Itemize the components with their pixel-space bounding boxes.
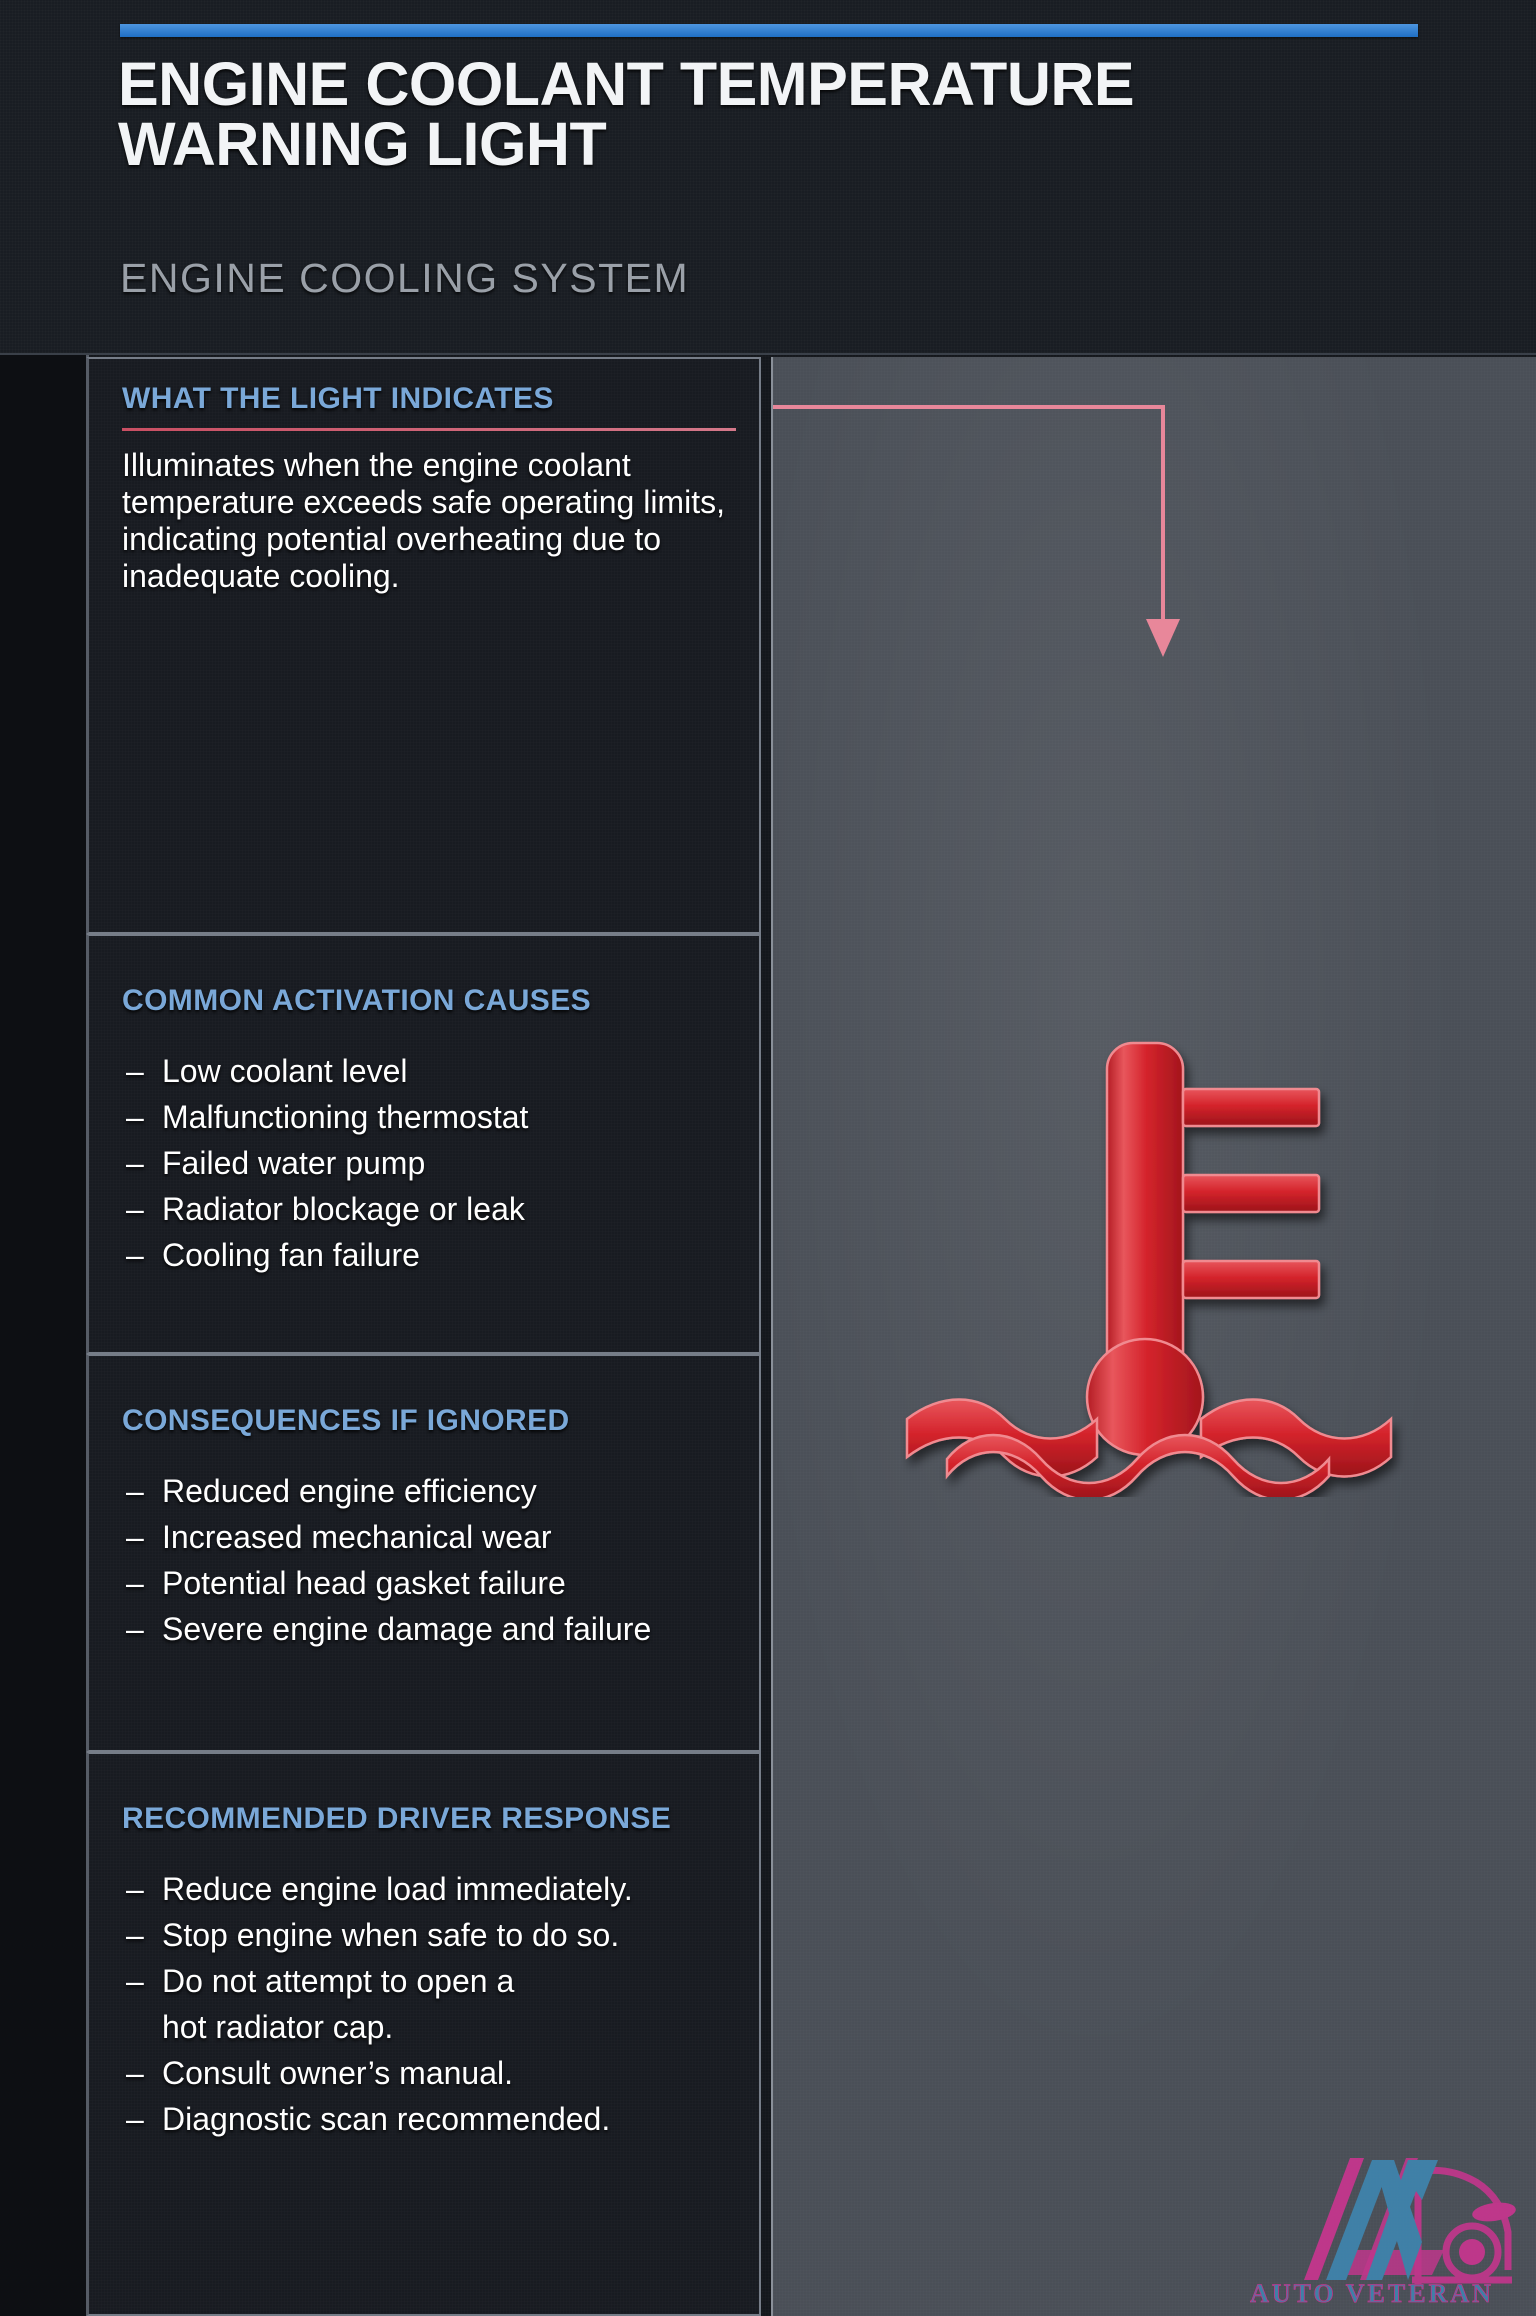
section-consequences-if-ignored: CONSEQUENCES IF IGNORED –Reduced engine … bbox=[86, 1354, 761, 1752]
watermark-auto-veteran: AUTO VETERAN bbox=[1222, 2130, 1522, 2310]
bullet-dash-icon: – bbox=[126, 2050, 144, 2096]
list-item: –Increased mechanical wear bbox=[122, 1514, 733, 1560]
watermark-label: AUTO VETERAN bbox=[1250, 2279, 1494, 2308]
list-item-label: Stop engine when safe to do so. bbox=[162, 1917, 619, 1953]
list-item: –Diagnostic scan recommended. bbox=[122, 2096, 733, 2142]
engine-coolant-temperature-warning-icon bbox=[901, 1027, 1421, 1497]
list-item: –Potential head gasket failure bbox=[122, 1560, 733, 1606]
list-item: –Malfunctioning thermostat bbox=[122, 1094, 733, 1140]
bullet-dash-icon: – bbox=[126, 1468, 144, 1514]
bullet-dash-icon: – bbox=[126, 2096, 144, 2142]
list-item-label: Increased mechanical wear bbox=[162, 1519, 552, 1555]
list-item-label: Low coolant level bbox=[162, 1053, 407, 1089]
list-item-label: Failed water pump bbox=[162, 1145, 425, 1181]
header-accent-bar bbox=[120, 24, 1418, 37]
list-item-label: Consult owner’s manual. bbox=[162, 2055, 513, 2091]
page-subtitle: ENGINE COOLING SYSTEM bbox=[120, 255, 689, 302]
list-item: –Reduce engine load immediately. bbox=[122, 1866, 733, 1912]
bullet-dash-icon: – bbox=[126, 1560, 144, 1606]
list-item-label: Diagnostic scan recommended. bbox=[162, 2101, 610, 2137]
header: ENGINE COOLANT TEMPERATURE WARNING LIGHT… bbox=[0, 0, 1536, 355]
bullet-dash-icon: – bbox=[126, 1048, 144, 1094]
list-item: –Radiator blockage or leak bbox=[122, 1186, 733, 1232]
section-heading: COMMON ACTIVATION CAUSES bbox=[122, 984, 733, 1018]
list-item: –Failed water pump bbox=[122, 1140, 733, 1186]
list-item: –Reduced engine efficiency bbox=[122, 1468, 733, 1514]
list-item-label: Malfunctioning thermostat bbox=[162, 1099, 528, 1135]
content-column: WHAT THE LIGHT INDICATES Illuminates whe… bbox=[86, 357, 761, 2316]
list-item-label: Do not attempt to open a hot radiator ca… bbox=[162, 1963, 514, 2045]
section-what-the-light-indicates: WHAT THE LIGHT INDICATES Illuminates whe… bbox=[86, 357, 761, 934]
causes-list: –Low coolant level –Malfunctioning therm… bbox=[122, 1048, 733, 1278]
list-item-label: Reduce engine load immediately. bbox=[162, 1871, 633, 1907]
list-item: –Do not attempt to open a hot radiator c… bbox=[122, 1958, 733, 2050]
list-item: –Stop engine when safe to do so. bbox=[122, 1912, 733, 1958]
section-heading: CONSEQUENCES IF IGNORED bbox=[122, 1404, 733, 1438]
list-item-label: Radiator blockage or leak bbox=[162, 1191, 525, 1227]
list-item-label: Cooling fan failure bbox=[162, 1237, 420, 1273]
section-heading: RECOMMENDED DRIVER RESPONSE bbox=[122, 1802, 733, 1836]
illustration-panel: AUTO VETERAN bbox=[771, 357, 1536, 2316]
list-item: –Low coolant level bbox=[122, 1048, 733, 1094]
infographic-poster: ENGINE COOLANT TEMPERATURE WARNING LIGHT… bbox=[0, 0, 1536, 2316]
list-item: –Consult owner’s manual. bbox=[122, 2050, 733, 2096]
bullet-dash-icon: – bbox=[126, 1912, 144, 1958]
section-common-activation-causes: COMMON ACTIVATION CAUSES –Low coolant le… bbox=[86, 934, 761, 1354]
section-rule bbox=[122, 428, 736, 431]
consequences-list: –Reduced engine efficiency –Increased me… bbox=[122, 1468, 733, 1652]
section-paragraph: Illuminates when the engine coolant temp… bbox=[122, 447, 733, 595]
page-title: ENGINE COOLANT TEMPERATURE WARNING LIGHT bbox=[118, 55, 1438, 175]
bullet-dash-icon: – bbox=[126, 1606, 144, 1652]
bullet-dash-icon: – bbox=[126, 1514, 144, 1560]
list-item-label: Potential head gasket failure bbox=[162, 1565, 566, 1601]
bullet-dash-icon: – bbox=[126, 1140, 144, 1186]
bullet-dash-icon: – bbox=[126, 1094, 144, 1140]
response-list: –Reduce engine load immediately. –Stop e… bbox=[122, 1866, 733, 2142]
section-heading: WHAT THE LIGHT INDICATES bbox=[122, 382, 733, 416]
bullet-dash-icon: – bbox=[126, 1866, 144, 1912]
bullet-dash-icon: – bbox=[126, 1186, 144, 1232]
list-item-label: Severe engine damage and failure bbox=[162, 1611, 651, 1647]
list-item: –Cooling fan failure bbox=[122, 1232, 733, 1278]
list-item: –Severe engine damage and failure bbox=[122, 1606, 733, 1652]
list-item-label: Reduced engine efficiency bbox=[162, 1473, 537, 1509]
bullet-dash-icon: – bbox=[126, 1232, 144, 1278]
bullet-dash-icon: – bbox=[126, 1958, 144, 2004]
section-recommended-driver-response: RECOMMENDED DRIVER RESPONSE –Reduce engi… bbox=[86, 1752, 761, 2316]
